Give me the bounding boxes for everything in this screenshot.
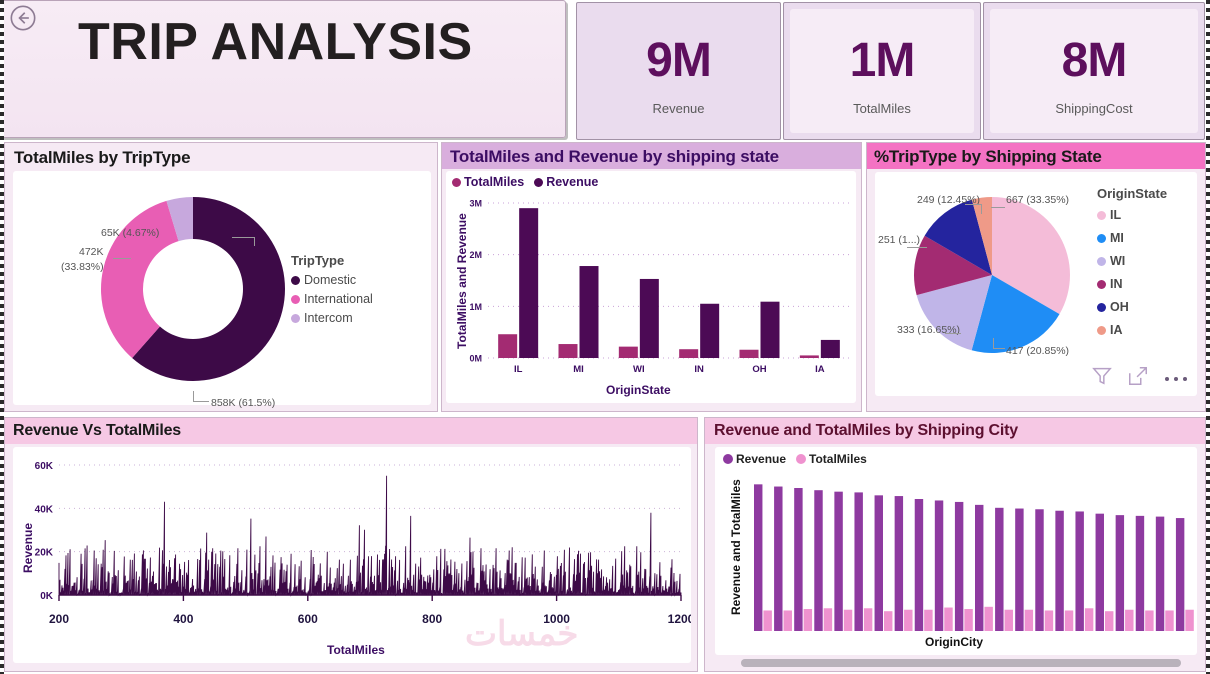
legend-item-revenue[interactable]: Revenue <box>534 175 598 189</box>
legend-swatch-icon <box>452 178 461 187</box>
svg-text:600: 600 <box>298 612 318 626</box>
pie-plot-area: 249 (12.45%) 251 (1...) 667 (33.35%) 333… <box>875 172 1197 396</box>
pie-legend: OriginState IL MI WI IN <box>1097 186 1167 337</box>
legend-item-intercom[interactable]: Intercom <box>291 311 373 325</box>
svg-text:20K: 20K <box>35 548 54 559</box>
pie-label-in: 251 (1...) <box>878 234 920 247</box>
leader-line <box>193 401 209 402</box>
legend-item-il[interactable]: IL <box>1097 208 1167 222</box>
leader-line <box>907 247 927 248</box>
city-y-axis-title: Revenue and TotalMiles <box>729 479 743 615</box>
legend-item-ia[interactable]: IA <box>1097 323 1167 337</box>
donut-label-domestic: 858K (61.5%) <box>211 397 275 410</box>
legend-item-mi[interactable]: MI <box>1097 231 1167 245</box>
kpi-value: 8M <box>984 33 1204 88</box>
legend-label: Revenue <box>546 175 598 189</box>
kpi-card-revenue[interactable]: 9M Revenue <box>576 2 781 140</box>
legend-swatch-icon <box>1097 280 1106 289</box>
donut-label-international-pct: (33.83%) <box>61 261 104 274</box>
city-horizontal-scrollbar[interactable] <box>741 659 1181 667</box>
leader-line <box>113 258 131 259</box>
legend-label: Intercom <box>304 311 353 325</box>
more-options-icon[interactable] <box>1163 370 1189 388</box>
pie-label-il: 667 (33.35%) <box>1006 194 1062 207</box>
legend-item-international[interactable]: International <box>291 292 373 306</box>
svg-text:400: 400 <box>173 612 193 626</box>
legend-swatch-icon <box>723 454 733 464</box>
legend-swatch-icon <box>534 178 543 187</box>
svg-text:800: 800 <box>422 612 442 626</box>
kpi-label: Revenue <box>577 101 780 116</box>
legend-label: IN <box>1110 277 1123 291</box>
svg-text:60K: 60K <box>35 461 54 472</box>
visual-title: Revenue and TotalMiles by Shipping City <box>714 422 1018 440</box>
pie-label-oh: 249 (12.45%) <box>917 194 963 207</box>
svg-text:200: 200 <box>49 612 69 626</box>
page-title: TRIP ANALYSIS <box>78 12 473 72</box>
leader-line <box>945 333 961 334</box>
svg-text:0M: 0M <box>469 354 482 364</box>
kpi-card-shippingcost[interactable]: 8M ShippingCost <box>983 2 1205 140</box>
bar-x-axis-title: OriginState <box>606 383 671 397</box>
filter-icon[interactable] <box>1091 365 1113 392</box>
legend-item-totalmiles[interactable]: TotalMiles <box>796 452 867 466</box>
scatter-plot-area: 0K20K40K60K20040060080010001200 Revenue … <box>13 447 691 663</box>
legend-label: WI <box>1110 254 1125 268</box>
city-bar-chart[interactable] <box>715 469 1197 649</box>
city-plot-area: Revenue TotalMiles Revenue and TotalMile… <box>715 447 1197 655</box>
svg-text:1M: 1M <box>469 302 482 312</box>
kpi-value: 9M <box>577 33 780 88</box>
leader-line <box>993 338 994 348</box>
leader-line <box>232 237 254 238</box>
pie-label-wi: 333 (16.65%) <box>897 324 945 337</box>
focus-mode-icon[interactable] <box>1127 365 1149 392</box>
dashboard-root: TRIP ANALYSIS 9M Revenue 1M TotalMiles 8… <box>0 0 1210 674</box>
svg-text:40K: 40K <box>35 504 54 515</box>
visual-triptype-pct-by-state[interactable]: %TripType by Shipping State 249 (12.45%)… <box>866 142 1206 412</box>
leader-line <box>991 207 1005 208</box>
svg-text:1200: 1200 <box>668 612 691 626</box>
scatter-x-axis-title: TotalMiles <box>327 643 385 657</box>
legend-label: IL <box>1110 208 1121 222</box>
visual-header-icons <box>1091 365 1189 392</box>
spike-chart[interactable]: 0K20K40K60K20040060080010001200 <box>13 447 691 663</box>
legend-swatch-icon <box>1097 303 1106 312</box>
legend-title: TripType <box>291 253 373 268</box>
donut-label-international-value: 472K <box>79 246 104 259</box>
legend-item-revenue[interactable]: Revenue <box>723 452 786 466</box>
svg-text:MI: MI <box>573 364 584 375</box>
legend-label: TotalMiles <box>809 452 867 466</box>
legend-label: IA <box>1110 323 1123 337</box>
visual-title: Revenue Vs TotalMiles <box>13 422 181 440</box>
bar-chart[interactable]: 0M1M2M3MILMIWIINOHIA <box>446 193 856 403</box>
legend-swatch-icon <box>291 314 300 323</box>
legend-label: Revenue <box>736 452 786 466</box>
visual-revenue-vs-totalmiles[interactable]: Revenue Vs TotalMiles 0K20K40K60K2004006… <box>4 417 698 672</box>
bar-legend: TotalMiles Revenue <box>452 175 598 189</box>
legend-label: MI <box>1110 231 1124 245</box>
svg-text:3M: 3M <box>469 199 482 209</box>
leader-line <box>193 391 194 401</box>
legend-label: OH <box>1110 300 1129 314</box>
legend-label: TotalMiles <box>464 175 524 189</box>
svg-text:WI: WI <box>633 364 645 375</box>
svg-text:IN: IN <box>694 364 704 375</box>
legend-swatch-icon <box>1097 234 1106 243</box>
svg-text:0K: 0K <box>40 591 54 602</box>
legend-swatch-icon <box>1097 211 1106 220</box>
donut-label-intercom: 65K (4.67%) <box>101 227 159 240</box>
legend-item-wi[interactable]: WI <box>1097 254 1167 268</box>
donut-legend: TripType Domestic International Intercom <box>291 253 373 325</box>
kpi-label: TotalMiles <box>784 101 980 116</box>
visual-totalmiles-revenue-by-state[interactable]: TotalMiles and Revenue by shipping state… <box>441 142 862 412</box>
visual-totalmiles-by-triptype[interactable]: TotalMiles by TripType 65K (4.67%) 472K … <box>4 142 438 412</box>
svg-text:1000: 1000 <box>543 612 570 626</box>
legend-swatch-icon <box>291 276 300 285</box>
legend-swatch-icon <box>1097 257 1106 266</box>
svg-text:2M: 2M <box>469 250 482 260</box>
legend-item-oh[interactable]: OH <box>1097 300 1167 314</box>
city-legend: Revenue TotalMiles <box>723 452 867 466</box>
donut-plot-area: 65K (4.67%) 472K (33.83%) 858K (61.5%) T… <box>13 171 431 405</box>
city-x-axis-title: OriginCity <box>925 635 983 649</box>
back-circle-arrow-icon[interactable] <box>9 4 37 32</box>
page-edge-right <box>1206 0 1210 674</box>
svg-text:OH: OH <box>752 364 766 375</box>
leader-line <box>254 237 255 246</box>
bar-plot-area: TotalMiles Revenue 0M1M2M3MILMIWIINOHIA … <box>446 171 856 403</box>
scrollbar-thumb[interactable] <box>741 659 1181 667</box>
scatter-y-axis-title: Revenue <box>21 523 35 573</box>
legend-item-totalmiles[interactable]: TotalMiles <box>452 175 524 189</box>
legend-title: OriginState <box>1097 186 1167 201</box>
visual-title: %TripType by Shipping State <box>874 147 1102 167</box>
visual-title: TotalMiles by TripType <box>14 148 190 168</box>
kpi-label: ShippingCost <box>984 101 1204 116</box>
legend-item-domestic[interactable]: Domestic <box>291 273 373 287</box>
kpi-value: 1M <box>784 33 980 88</box>
legend-item-in[interactable]: IN <box>1097 277 1167 291</box>
visual-title: TotalMiles and Revenue by shipping state <box>450 147 779 167</box>
legend-swatch-icon <box>1097 326 1106 335</box>
kpi-card-totalmiles[interactable]: 1M TotalMiles <box>783 2 981 140</box>
dashboard-title-card: TRIP ANALYSIS <box>0 0 566 138</box>
visual-revenue-totalmiles-by-city[interactable]: Revenue and TotalMiles by Shipping City … <box>704 417 1206 672</box>
legend-label: Domestic <box>304 273 356 287</box>
svg-text:IL: IL <box>514 364 523 375</box>
leader-line <box>965 204 981 205</box>
svg-text:IA: IA <box>815 364 825 375</box>
leader-line <box>981 204 982 214</box>
legend-swatch-icon <box>291 295 300 304</box>
bar-y-axis-title: TotalMiles and Revenue <box>455 213 469 349</box>
leader-line <box>993 348 1005 349</box>
pie-label-mi: 417 (20.85%) <box>1006 345 1069 358</box>
legend-swatch-icon <box>796 454 806 464</box>
legend-label: International <box>304 292 373 306</box>
